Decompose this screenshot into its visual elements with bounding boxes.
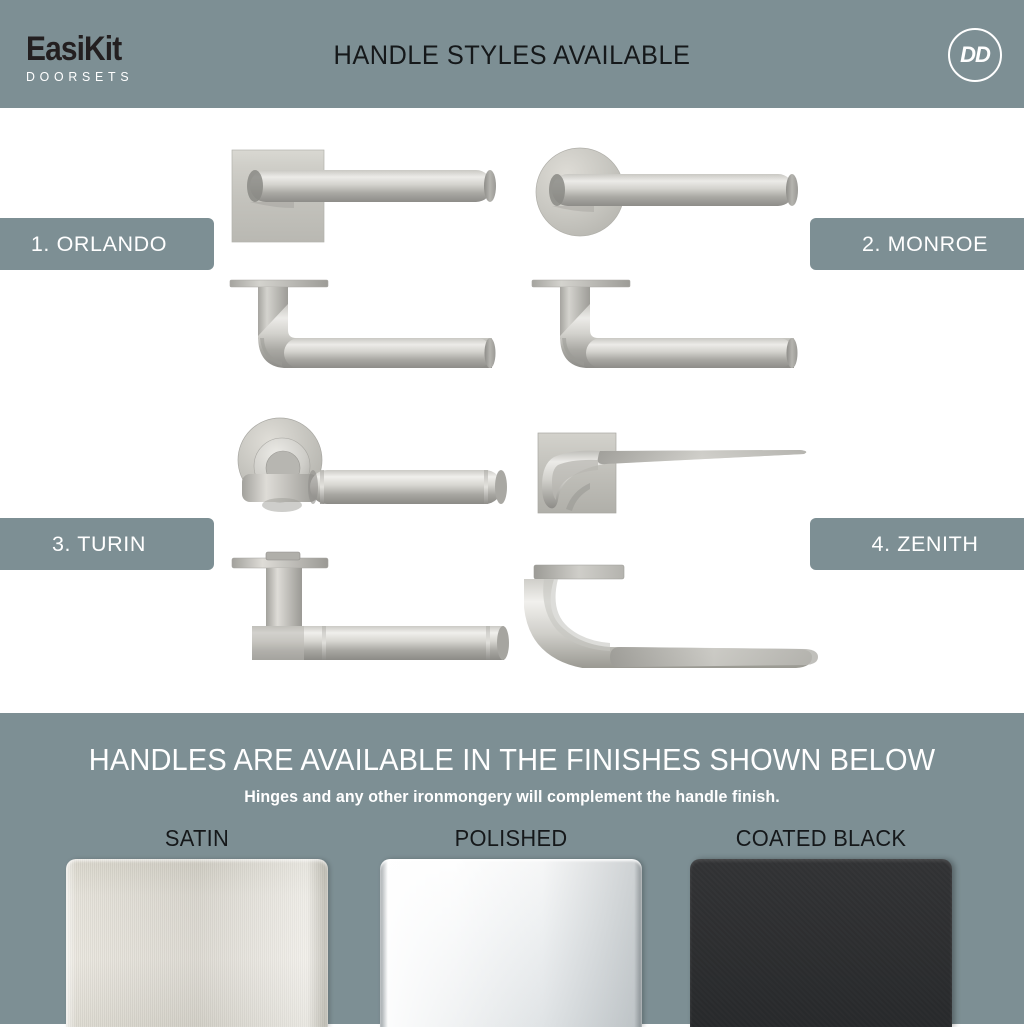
brand-logo-tagline: DOORSETS (26, 69, 169, 85)
finish-satin-label: SATIN (59, 823, 335, 853)
dd-badge-icon: DD (948, 28, 1002, 82)
finish-polished-label: POLISHED (373, 823, 649, 853)
page-header: EasiKit DOORSETS HANDLE STYLES AVAILABLE… (0, 0, 1024, 108)
turin-handle-illustration (222, 408, 527, 673)
finish-satin[interactable]: SATIN (52, 823, 342, 1027)
handle-label-turin-text: 3. TURIN (52, 532, 146, 557)
orlando-handle-illustration (222, 130, 522, 380)
handle-label-orlando[interactable]: 1. ORLANDO (0, 218, 214, 270)
handle-label-turin[interactable]: 3. TURIN (0, 518, 214, 570)
handle-label-monroe-text: 2. MONROE (862, 232, 988, 257)
page-title: HANDLE STYLES AVAILABLE (31, 40, 994, 71)
handle-label-zenith-text: 4. ZENITH (872, 532, 979, 557)
finish-coated-black[interactable]: COATED BLACK (676, 823, 966, 1027)
finishes-subheading: Hinges and any other ironmongery will co… (31, 787, 994, 807)
finish-polished-swatch[interactable] (380, 859, 642, 1027)
finish-polished[interactable]: POLISHED (366, 823, 656, 1027)
handle-image-orlando (222, 130, 522, 380)
dd-badge-label: DD (950, 30, 1000, 80)
handle-styles-panel: 1. ORLANDO 2. MONROE 3. TURIN 4. ZENITH (0, 108, 1024, 713)
infographic-page: EasiKit DOORSETS HANDLE STYLES AVAILABLE… (0, 0, 1024, 1024)
handle-image-turin (222, 408, 527, 673)
finish-coated-black-swatch[interactable] (690, 859, 952, 1027)
handle-label-orlando-text: 1. ORLANDO (31, 232, 167, 257)
finishes-swatch-row: SATIN POLISHED COATED BLACK (0, 823, 1024, 1023)
zenith-handle-illustration (524, 413, 829, 668)
finishes-section: HANDLES ARE AVAILABLE IN THE FINISHES SH… (0, 713, 1024, 1024)
handle-label-monroe[interactable]: 2. MONROE (810, 218, 1024, 270)
monroe-handle-illustration (524, 130, 824, 380)
finishes-heading: HANDLES ARE AVAILABLE IN THE FINISHES SH… (26, 743, 999, 778)
handle-image-zenith (524, 413, 829, 668)
finish-satin-swatch[interactable] (66, 859, 328, 1027)
handle-image-monroe (524, 130, 824, 380)
handle-label-zenith[interactable]: 4. ZENITH (810, 518, 1024, 570)
finish-coated-black-label: COATED BLACK (683, 823, 959, 853)
